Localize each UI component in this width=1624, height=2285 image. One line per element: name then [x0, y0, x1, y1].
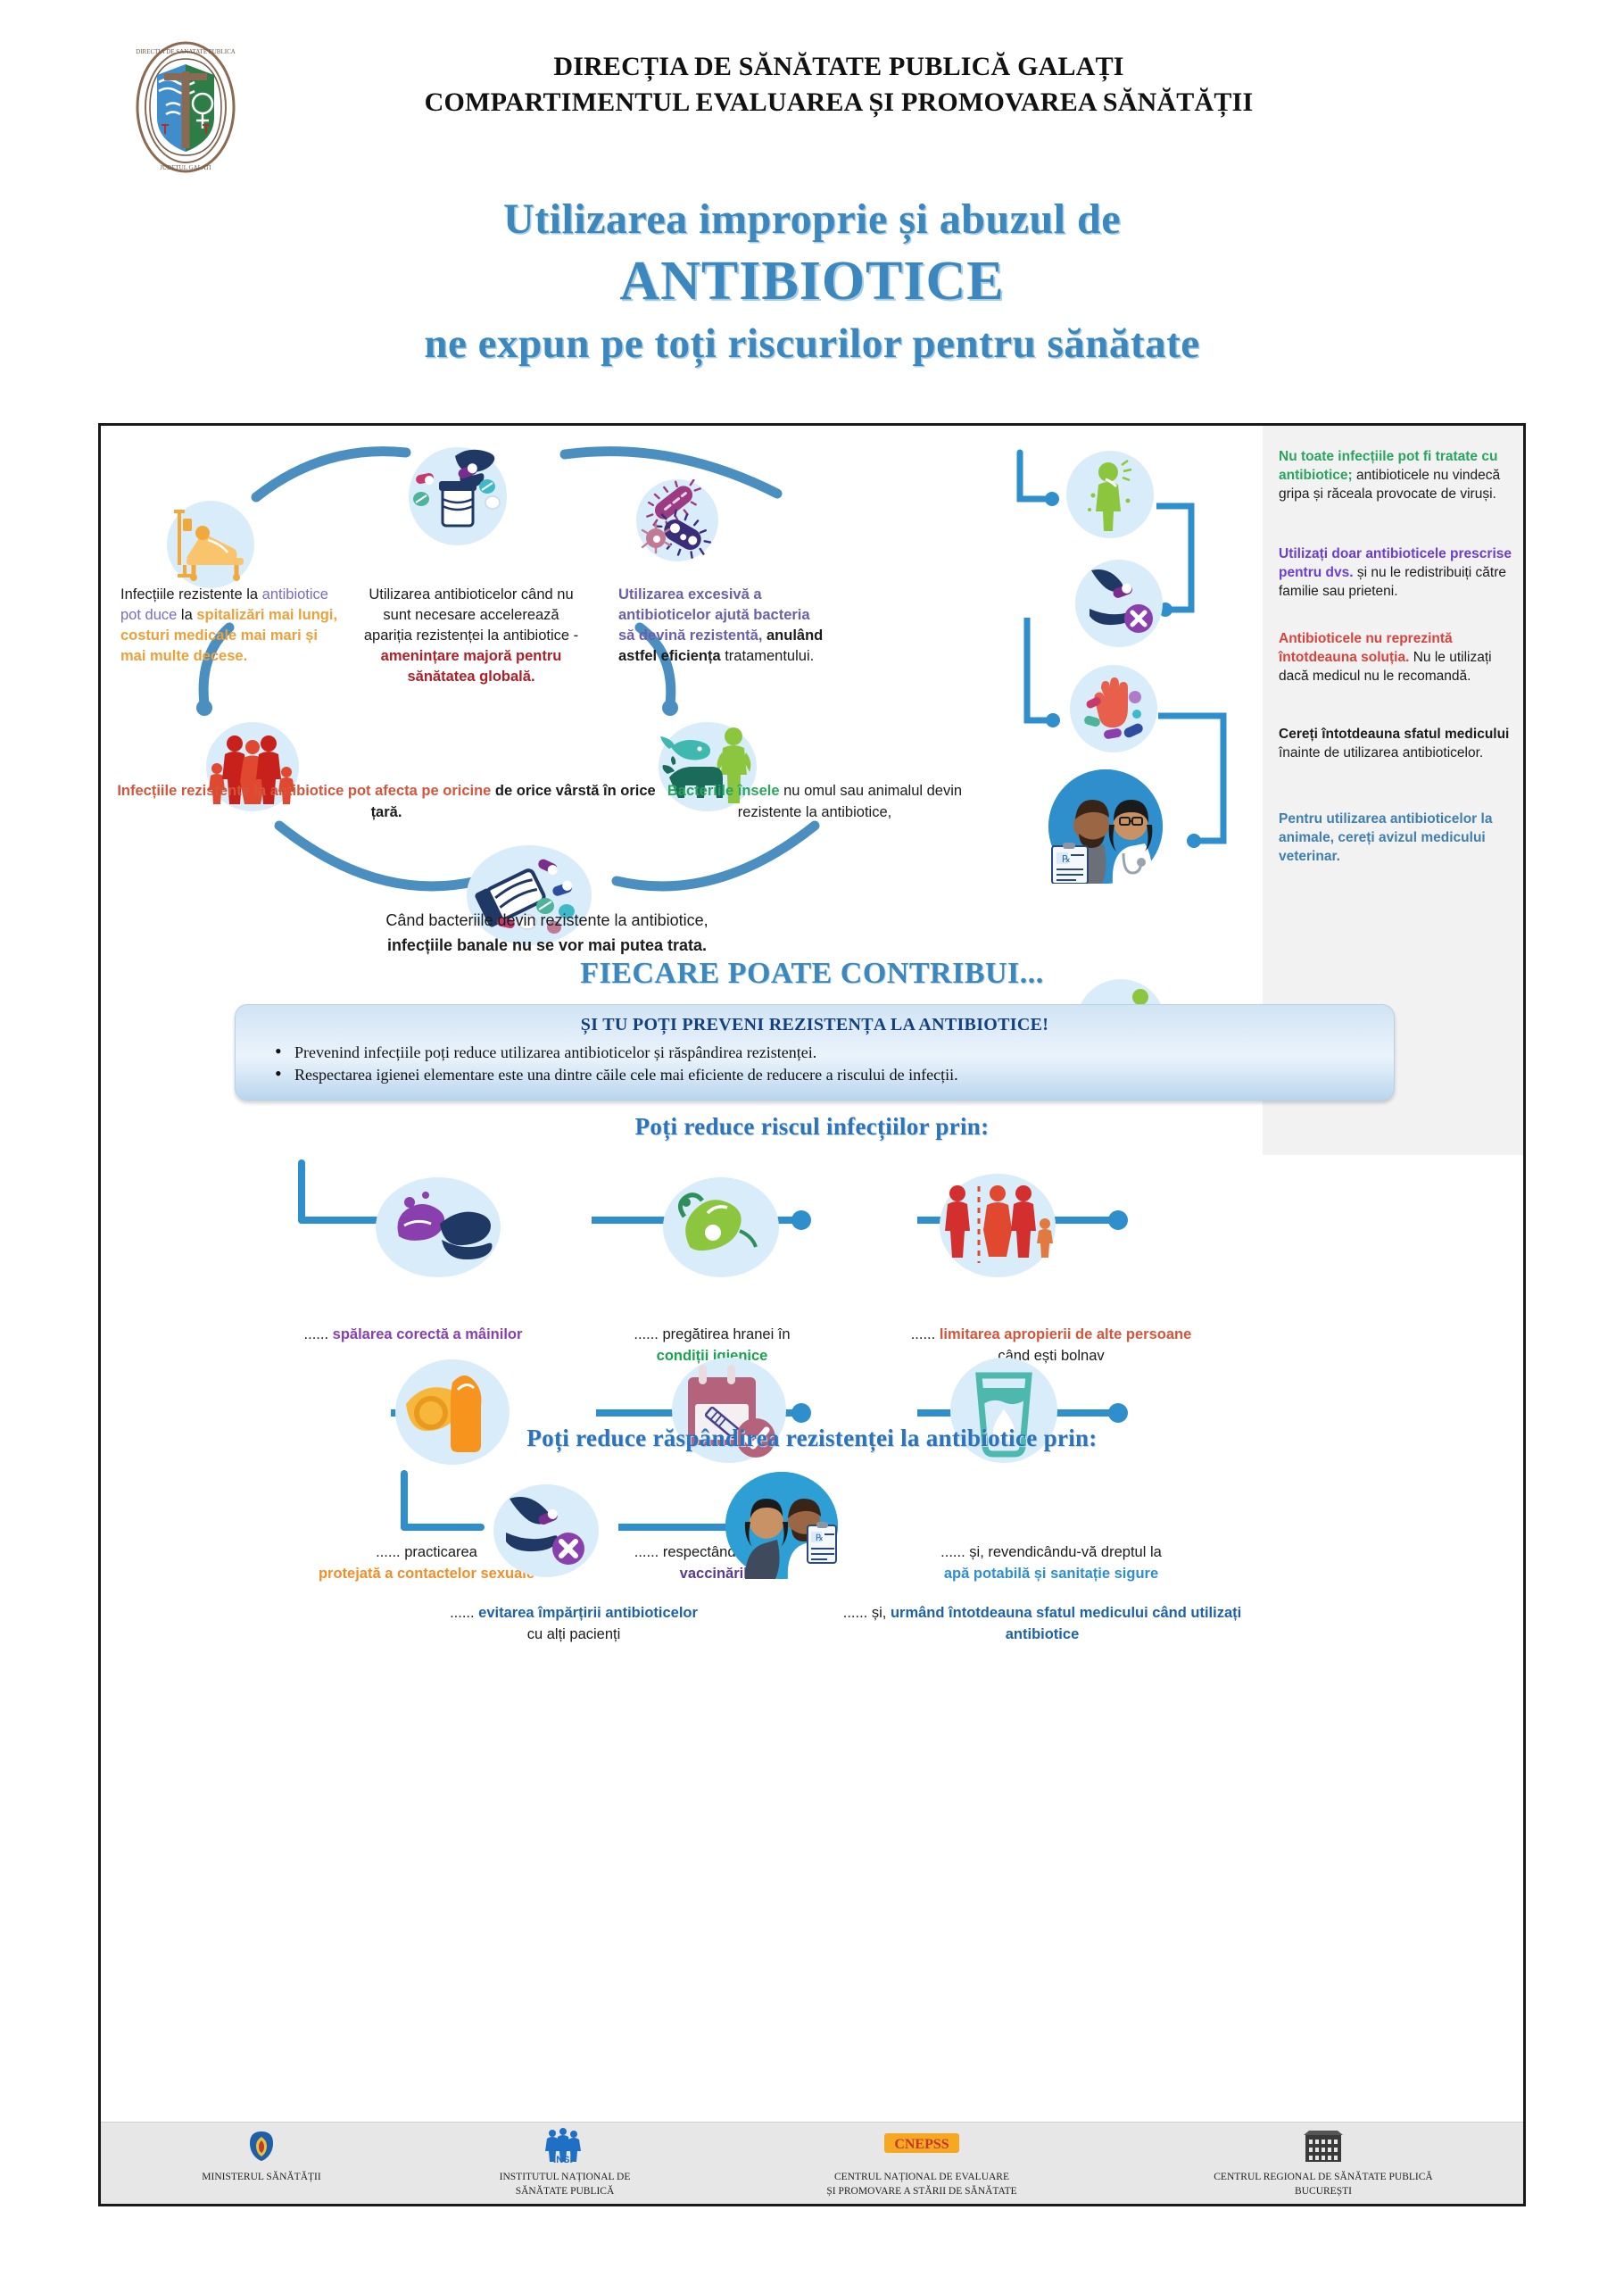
fact-animals-text: Bacteriile însele nu omul sau animalul d…: [654, 780, 975, 823]
footer-label-line2: BUCUREȘTI: [1145, 2184, 1502, 2198]
caption-plain: și, revendicându-vă dreptul la: [965, 1544, 1162, 1560]
footer-label-line2: ȘI PROMOVARE A STĂRII DE SĂNĂTATE: [743, 2184, 1100, 2198]
poster-frame: Nu toate infecțiile pot fi tratate cu an…: [98, 423, 1526, 2206]
title-line-2: ANTIBIOTICE: [196, 247, 1428, 315]
caption-highlight: evitarea împărțirii antibioticelor: [475, 1605, 698, 1621]
doctor-patient-icon: ℞: [1048, 769, 1163, 884]
handwash-icon: [376, 1177, 501, 1277]
advice-highlight: Pentru utilizarea antibioticelor la anim…: [1279, 811, 1492, 864]
caption-doctor-advice: ...... și, urmând întotdeauna sfatul med…: [806, 1602, 1279, 1645]
advice-highlight: Cereți întotdeauna sfatul medicului: [1279, 727, 1509, 742]
stop-pills-icon: [1070, 665, 1157, 752]
advice-item-not-all-infections: Nu toate infecțiile pot fi tratate cu an…: [1279, 447, 1512, 503]
callout-bullets: Prevenind infecțiile poți reduce utiliza…: [271, 1042, 1394, 1086]
footer-label-line2: SĂNĂTATE PUBLICĂ: [431, 2184, 699, 2198]
hospital-bed-icon: [167, 501, 254, 588]
title-line-3: ne expun pe toți riscurilor pentru sănăt…: [196, 315, 1428, 372]
reduce-risk-heading: Poți reduce riscul infecțiilor prin:: [101, 1113, 1523, 1141]
footer-label-line1: CENTRUL REGIONAL DE SĂNĂTATE PUBLICĂ: [1145, 2170, 1502, 2184]
social-distance-icon: [940, 1174, 1056, 1277]
caption-lead: ......: [911, 1326, 936, 1342]
caption-handwash: ...... spălarea corectă a mâinilor: [270, 1324, 556, 1345]
reduce-spread-heading: Poți reduce răspândirea rezistenței la a…: [101, 1425, 1523, 1452]
insp-icon: INSP: [538, 2128, 592, 2164]
caption-no-sharing: ...... evitarea împărțirii antibioticelo…: [386, 1602, 761, 1645]
footer-label-line1: CENTRUL NAȚIONAL DE EVALUARE: [743, 2170, 1100, 2184]
header-title-block: DIRECȚIA DE SĂNĂTATE PUBLICĂ GALAȚI COMP…: [268, 49, 1410, 120]
caption-lead: ......: [634, 1544, 659, 1560]
svg-text:CNEPSS: CNEPSS: [894, 2137, 949, 2152]
sick-person-icon: [1066, 451, 1154, 538]
footer-logo-insp: INSP INSTITUTUL NAȚIONAL DE SĂNĂTATE PUB…: [431, 2128, 699, 2198]
fact-green: Bacteriile însele: [667, 783, 780, 799]
advice-item-vet-advice: Pentru utilizarea antibioticelor la anim…: [1279, 810, 1512, 866]
caption-plain: pregătirea hranei în: [659, 1326, 791, 1342]
building-icon: [1302, 2128, 1345, 2164]
fact-hospital-text: Infecțiile rezistente la antibiotice pot…: [120, 585, 339, 667]
fact-pills-text: Utilizarea antibioticelor când nu sunt n…: [360, 585, 583, 687]
doctor-advice-icon: ℞: [725, 1472, 838, 1579]
poster-page: DIRECTIA DE SANATATE PUBLICA JUDETUL GAL…: [0, 0, 1624, 2285]
coat-of-arms-icon: [244, 2128, 279, 2164]
fact-red: Infecțiile rezistente la antibiotice pot…: [117, 783, 491, 799]
callout-bullet: Respectarea igienei elementare este una …: [271, 1064, 1394, 1086]
caption-lead: ......: [304, 1326, 329, 1342]
footer-logo-cnepss: CNEPSS CENTRUL NAȚIONAL DE EVALUARE ȘI P…: [743, 2128, 1100, 2198]
caption-lead: ......: [450, 1605, 475, 1621]
bacteria-icon: [636, 479, 718, 561]
advice-item-not-always-solution: Antibioticele nu reprezintă întotdeauna …: [1279, 629, 1512, 685]
caption-highlight: apă potabilă și sanitație sigure: [944, 1566, 1158, 1582]
svg-text:DIRECTIA DE SANATATE PUBLICA: DIRECTIA DE SANATATE PUBLICA: [136, 48, 236, 55]
caption-clean-water: ...... și, revendicându-vă dreptul la ap…: [859, 1541, 1243, 1584]
advice-rest: înainte de utilizarea antibioticelor.: [1279, 745, 1483, 760]
caption-highlight: urmând întotdeauna sfatul medicului când…: [886, 1605, 1241, 1642]
footer-label-line1: MINISTERUL SĂNĂTĂȚII: [137, 2170, 386, 2184]
prevention-callout-box: ȘI TU POȚI PREVENI REZISTENȚA LA ANTIBIO…: [235, 1004, 1395, 1101]
callout-title: ȘI TU POȚI PREVENI REZISTENȚA LA ANTIBIO…: [236, 1015, 1394, 1035]
pill-bottle-hand-icon: [409, 447, 507, 545]
fact-plain: Infecțiile rezistente la: [120, 586, 262, 602]
caption-lead: ......: [376, 1544, 401, 1560]
fact-family-text: Infecțiile rezistente la antibiotice pot…: [110, 780, 663, 823]
fact-plain-2: la: [177, 607, 196, 623]
fact-plain: Când bacteriile devin rezistente la anti…: [385, 911, 708, 929]
advice-item-only-prescribed: Utilizați doar antibioticele prescrise p…: [1279, 544, 1512, 601]
food-hygiene-icon: [663, 1177, 779, 1277]
fact-bottle-text: Când bacteriile devin rezistente la anti…: [253, 908, 841, 958]
caption-plain: practicarea: [401, 1544, 477, 1560]
fact-plain: tratamentului.: [721, 648, 815, 664]
contribute-heading: FIECARE POATE CONTRIBUI...: [101, 957, 1523, 991]
caption-lead: ......: [634, 1326, 659, 1342]
poster-footer: MINISTERUL SĂNĂTĂȚII INSP INSTITUTUL NAȚ…: [101, 2122, 1523, 2204]
footer-label-line1: INSTITUTUL NAȚIONAL DE: [431, 2170, 699, 2184]
header-line-2: COMPARTIMENTUL EVALUAREA ȘI PROMOVAREA S…: [268, 85, 1410, 120]
cnepss-icon: CNEPSS: [868, 2128, 975, 2164]
callout-bullet: Prevenind infecțiile poți reduce utiliza…: [271, 1042, 1394, 1064]
poster-header: DIRECTIA DE SANATATE PUBLICA JUDETUL GAL…: [0, 0, 1624, 179]
svg-text:℞: ℞: [1062, 854, 1071, 865]
footer-logo-crsp: CENTRUL REGIONAL DE SĂNĂTATE PUBLICĂ BUC…: [1145, 2128, 1502, 2198]
dsp-galati-seal-icon: DIRECTIA DE SANATATE PUBLICA JUDETUL GAL…: [114, 36, 257, 179]
no-sharing-pills-icon: [1075, 560, 1163, 647]
svg-text:JUDETUL GALATI: JUDETUL GALATI: [160, 164, 211, 171]
title-line-1: Utilizarea improprie și abuzul de: [196, 192, 1428, 247]
caption-lead: ...... și,: [843, 1605, 887, 1621]
caption-lead: ......: [940, 1544, 965, 1560]
advice-item-ask-doctor: Cereți întotdeauna sfatul medicului înai…: [1279, 725, 1512, 762]
svg-text:℞: ℞: [816, 1533, 824, 1543]
fact-bacteria-text: Utilizarea excesivă a antibioticelor aju…: [618, 585, 828, 667]
caption-sub: cu alți pacienți: [527, 1626, 621, 1642]
caption-highlight: spălarea corectă a mâinilor: [328, 1326, 522, 1342]
caption-highlight: limitarea apropierii de alte persoane: [935, 1326, 1191, 1342]
fact-plain: Utilizarea antibioticelor când nu sunt n…: [364, 586, 578, 644]
header-line-1: DIRECȚIA DE SĂNĂTATE PUBLICĂ GALAȚI: [268, 49, 1410, 85]
no-sharing-icon: [493, 1484, 599, 1577]
footer-logo-ministry: MINISTERUL SĂNĂTĂȚII: [137, 2128, 386, 2184]
curve-connector-1: [244, 438, 422, 510]
svg-text:INSP: INSP: [553, 2155, 576, 2164]
fact-red: amenințare majoră pentru sănătatea globa…: [381, 648, 562, 685]
poster-main-title: Utilizarea improprie și abuzul de ANTIBI…: [196, 192, 1428, 372]
fact-bold: infecțiile banale nu se vor mai putea tr…: [387, 936, 707, 954]
